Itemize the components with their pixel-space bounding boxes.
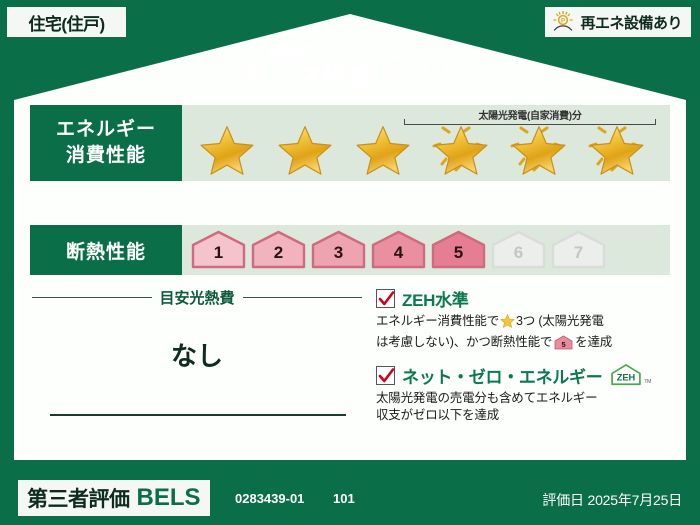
energy-star-4 (422, 120, 500, 178)
label-content: エネルギー 消費性能 太陽光発電(自家消費)分 断熱性能 1234567 (18, 18, 682, 458)
star-icon (196, 125, 258, 175)
insulation-label-text: 断熱性能 (66, 237, 146, 264)
energy-star-2 (266, 120, 344, 178)
bels-wordmark: BELS (137, 484, 201, 512)
energy-label-line1: エネルギー (56, 117, 156, 143)
star-icon (508, 125, 570, 175)
insulation-level-4: 4 (370, 230, 427, 270)
energy-performance-label: エネルギー 消費性能 (30, 105, 182, 181)
criterion-zeh-level-title: ZEH水準 (376, 286, 672, 311)
insulation-level-number: 6 (490, 230, 547, 270)
netzero-desc-line1: 太陽光発電の売電分も含めてエネルギー (376, 391, 597, 405)
utility-cost-value: なし (32, 336, 362, 373)
zeh-logo-icon: ZEH TM (609, 363, 651, 387)
criterion-net-zero-description: 太陽光発電の売電分も含めてエネルギー 収支がゼロ以下を達成 (376, 390, 672, 426)
label-footer: 第三者評価 BELS 0283439-01 101 評価日 2025年7月25日 (0, 473, 700, 525)
heading-rule-right (243, 297, 363, 298)
checkbox-checked-icon[interactable] (376, 289, 395, 308)
star-icon (586, 125, 648, 175)
criterion-zeh-level-description: エネルギー消費性能で3つ (太陽光発電 は考慮しない)、かつ断熱性能で5を達成 (376, 313, 672, 356)
insulation-performance-row: 断熱性能 1234567 (30, 225, 670, 275)
insulation-level-number: 4 (370, 230, 427, 270)
utility-cost-underline (50, 414, 346, 416)
svg-text:5: 5 (562, 340, 566, 349)
zeh-desc-part1: エネルギー消費性能で (376, 314, 499, 328)
energy-star-5 (500, 120, 578, 178)
utility-cost-heading-text: 目安光熱費 (160, 287, 235, 308)
energy-performance-body: 太陽光発電(自家消費)分 (182, 105, 670, 181)
utility-cost-section: 目安光熱費 なし (32, 286, 362, 436)
criterion-zeh-level-label: ZEH水準 (402, 286, 469, 311)
zeh-desc-part4: を達成 (575, 335, 612, 349)
criteria-section: ZEH水準 エネルギー消費性能で3つ (太陽光発電 は考慮しない)、かつ断熱性能… (376, 286, 672, 436)
criterion-net-zero-energy: ネット・ゼロ・エネルギー ZEH TM 太陽光発電の売電分も含めてエネルギー 収… (376, 363, 672, 426)
star-icon (430, 125, 492, 175)
utility-cost-heading: 目安光熱費 (32, 286, 362, 308)
svg-text:ZEH: ZEH (617, 372, 636, 382)
energy-star-1 (188, 120, 266, 178)
third-party-label: 第三者評価 (27, 483, 130, 513)
insulation-level-5: 5 (430, 230, 487, 270)
energy-star-6 (578, 120, 656, 178)
insulation-performance-body: 1234567 (182, 225, 670, 275)
energy-star-rating (182, 119, 670, 179)
insulation-level-scale: 1234567 (182, 225, 670, 275)
insulation-level-number: 7 (550, 230, 607, 270)
insulation-house-icon: 5 (554, 339, 573, 353)
insulation-level-7: 7 (550, 230, 607, 270)
bels-certificate-number: 0283439-01 (235, 491, 304, 506)
insulation-level-2: 2 (250, 230, 307, 270)
star-icon (274, 125, 336, 175)
star-icon (500, 317, 515, 331)
zeh-desc-part3: は考慮しない)、かつ断熱性能で (376, 335, 552, 349)
energy-star-3 (344, 120, 422, 178)
bels-energy-label: 住宅(住戸) P 再エネ設備あり 建築物省エネ法に基づ (0, 0, 700, 525)
netzero-desc-line2: 収支がゼロ以下を達成 (376, 408, 499, 422)
criterion-net-zero-title: ネット・ゼロ・エネルギー ZEH TM (376, 363, 672, 388)
criterion-net-zero-label: ネット・ゼロ・エネルギー (402, 363, 602, 388)
criterion-zeh-level: ZEH水準 エネルギー消費性能で3つ (太陽光発電 は考慮しない)、かつ断熱性能… (376, 286, 672, 356)
zeh-trademark-text: TM (644, 379, 651, 385)
star-icon (352, 125, 414, 175)
energy-label-line2: 消費性能 (66, 143, 146, 169)
insulation-level-1: 1 (190, 230, 247, 270)
checkbox-checked-icon[interactable] (376, 366, 395, 385)
third-party-evaluation-chip: 第三者評価 BELS (18, 480, 210, 516)
zeh-desc-part2: 3つ (太陽光発電 (516, 314, 604, 328)
evaluation-date: 評価日 2025年7月25日 (542, 490, 682, 510)
insulation-level-number: 1 (190, 230, 247, 270)
insulation-performance-label: 断熱性能 (30, 225, 182, 275)
insulation-level-number: 5 (430, 230, 487, 270)
insulation-level-number: 2 (250, 230, 307, 270)
bels-unit-number: 101 (333, 491, 355, 506)
insulation-level-number: 3 (310, 230, 367, 270)
insulation-level-6: 6 (490, 230, 547, 270)
heading-rule-left (32, 297, 152, 298)
insulation-level-3: 3 (310, 230, 367, 270)
energy-performance-row: エネルギー 消費性能 太陽光発電(自家消費)分 (30, 105, 670, 181)
